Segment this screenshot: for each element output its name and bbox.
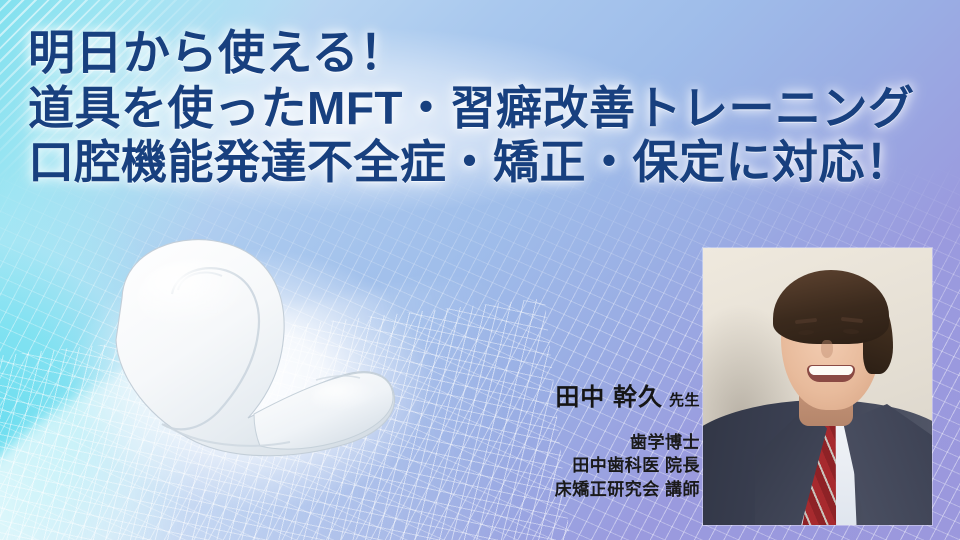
headline-line-1: 明日から使える！: [28, 28, 933, 78]
headline-line-2: 道具を使ったMFT・習癖改善トレーニング: [28, 84, 933, 133]
presenter-honorific: 先生: [669, 392, 700, 409]
nose: [821, 340, 833, 358]
presenter-credentials: 歯学博士 田中歯科医 院長 床矯正研究会 講師: [380, 431, 700, 501]
credential-line-3: 床矯正研究会 講師: [380, 478, 700, 501]
credential-line-1: 歯学博士: [380, 431, 700, 454]
credential-line-2: 田中歯科医 院長: [380, 454, 700, 477]
smiling-mouth: [807, 365, 855, 382]
presenter-name: 田中 幹久: [555, 384, 663, 411]
presenter-photo: [703, 248, 932, 525]
headline-block: 明日から使える！ 道具を使ったMFT・習癖改善トレーニング 口腔機能発達不全症・…: [28, 28, 933, 186]
presenter-name-row: 田中 幹久先生: [380, 386, 700, 410]
teeth: [809, 366, 853, 375]
headline-line-3: 口腔機能発達不全症・矯正・保定に対応！: [28, 138, 933, 187]
oral-appliance-image: [78, 228, 408, 478]
seminar-banner: 明日から使える！ 道具を使ったMFT・習癖改善トレーニング 口腔機能発達不全症・…: [0, 0, 960, 540]
presenter-info-block: 田中 幹久先生 歯学博士 田中歯科医 院長 床矯正研究会 講師: [380, 386, 700, 501]
